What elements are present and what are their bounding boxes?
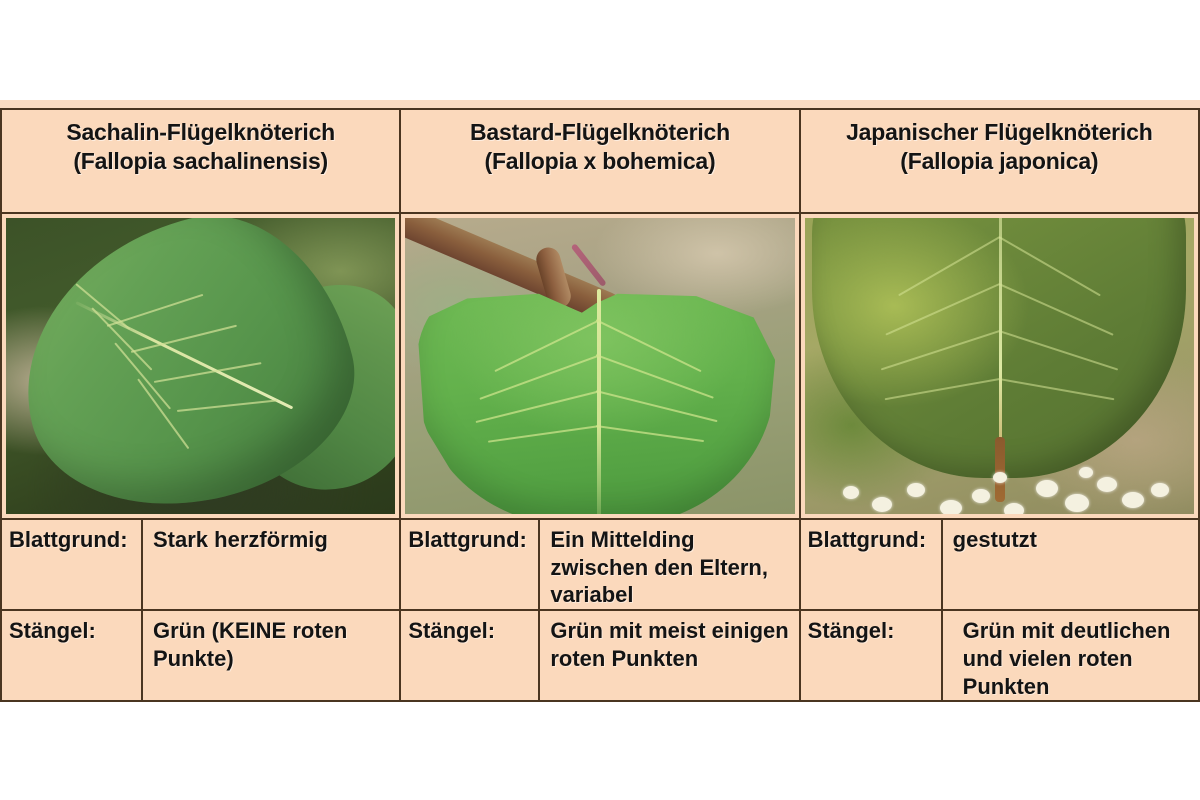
fact-cell-blattgrund-japonica: Blattgrund: gestutzt — [800, 519, 1199, 610]
flower — [972, 489, 990, 503]
flower — [993, 472, 1007, 483]
latin-name-sachalinensis: (Fallopia sachalinensis) — [8, 147, 393, 176]
fact-value-blattgrund: Ein Mittelding zwischen den Eltern, vari… — [540, 520, 798, 609]
table-fact-row-staengel: Stängel: Grün (KEINE roten Punkte) Stäng… — [1, 610, 1199, 701]
species-comparison-table: Sachalin-Flügelknöterich (Fallopia sacha… — [0, 108, 1200, 702]
flower — [940, 500, 962, 514]
fact-cell-blattgrund-sachalinensis: Blattgrund: Stark herzförmig — [1, 519, 400, 610]
fact-cell-staengel-japonica: Stängel: Grün mit deutlichen und vielen … — [800, 610, 1199, 701]
flower — [1004, 503, 1024, 514]
header-cell-japonica: Japanischer Flügelknöterich (Fallopia ja… — [800, 109, 1199, 213]
leaf-photo-bohemica — [405, 218, 794, 514]
flower — [1036, 480, 1058, 497]
table-photo-row — [1, 213, 1199, 519]
latin-name-japonica: (Fallopia japonica) — [807, 147, 1192, 176]
flower — [1065, 494, 1089, 512]
flower-cluster — [836, 449, 1194, 514]
fact-value-staengel: Grün (KEINE roten Punkte) — [143, 611, 399, 700]
leaf-midrib — [999, 218, 1002, 455]
species-title-sachalinensis: Sachalin-Flügelknöterich (Fallopia sacha… — [2, 110, 399, 175]
table-header-row: Sachalin-Flügelknöterich (Fallopia sacha… — [1, 109, 1199, 213]
fact-cell-blattgrund-bohemica: Blattgrund: Ein Mittelding zwischen den … — [400, 519, 799, 610]
fact-label-blattgrund: Blattgrund: — [401, 520, 540, 609]
fact-value-staengel: Grün mit meist einigen roten Punkten — [540, 611, 798, 700]
fact-label-staengel: Stängel: — [801, 611, 943, 700]
common-name-sachalinensis: Sachalin-Flügelknöterich — [8, 118, 393, 147]
flower — [1079, 467, 1093, 478]
fact-value-blattgrund: gestutzt — [943, 520, 1198, 609]
fact-cell-staengel-bohemica: Stängel: Grün mit meist einigen roten Pu… — [400, 610, 799, 701]
photo-cell-bohemica — [400, 213, 799, 519]
flower — [1097, 477, 1117, 492]
fact-label-staengel: Stängel: — [401, 611, 540, 700]
species-title-bohemica: Bastard-Flügelknöterich (Fallopia x bohe… — [401, 110, 798, 175]
table-fact-row-blattgrund: Blattgrund: Stark herzförmig Blattgrund:… — [1, 519, 1199, 610]
flower — [872, 497, 892, 512]
fact-label-blattgrund: Blattgrund: — [2, 520, 143, 609]
fact-value-staengel: Grün mit deutlichen und vielen roten Pun… — [943, 611, 1198, 700]
flower — [1151, 483, 1169, 497]
header-cell-bohemica: Bastard-Flügelknöterich (Fallopia x bohe… — [400, 109, 799, 213]
header-cell-sachalinensis: Sachalin-Flügelknöterich (Fallopia sacha… — [1, 109, 400, 213]
fact-value-blattgrund: Stark herzförmig — [143, 520, 399, 609]
comparison-table-page: Sachalin-Flügelknöterich (Fallopia sacha… — [0, 0, 1200, 800]
leaf-photo-japonica — [805, 218, 1194, 514]
flower — [843, 486, 859, 499]
comparison-table-wrapper: Sachalin-Flügelknöterich (Fallopia sacha… — [0, 108, 1200, 656]
common-name-bohemica: Bastard-Flügelknöterich — [407, 118, 792, 147]
common-name-japonica: Japanischer Flügelknöterich — [807, 118, 1192, 147]
latin-name-bohemica: (Fallopia x bohemica) — [407, 147, 792, 176]
photo-cell-japonica — [800, 213, 1199, 519]
leaf-photo-sachalinensis — [6, 218, 395, 514]
flower — [907, 483, 925, 497]
fact-label-blattgrund: Blattgrund: — [801, 520, 943, 609]
species-title-japonica: Japanischer Flügelknöterich (Fallopia ja… — [801, 110, 1198, 175]
flower — [1122, 492, 1144, 508]
fact-label-staengel: Stängel: — [2, 611, 143, 700]
photo-cell-sachalinensis — [1, 213, 400, 519]
fact-cell-staengel-sachalinensis: Stängel: Grün (KEINE roten Punkte) — [1, 610, 400, 701]
